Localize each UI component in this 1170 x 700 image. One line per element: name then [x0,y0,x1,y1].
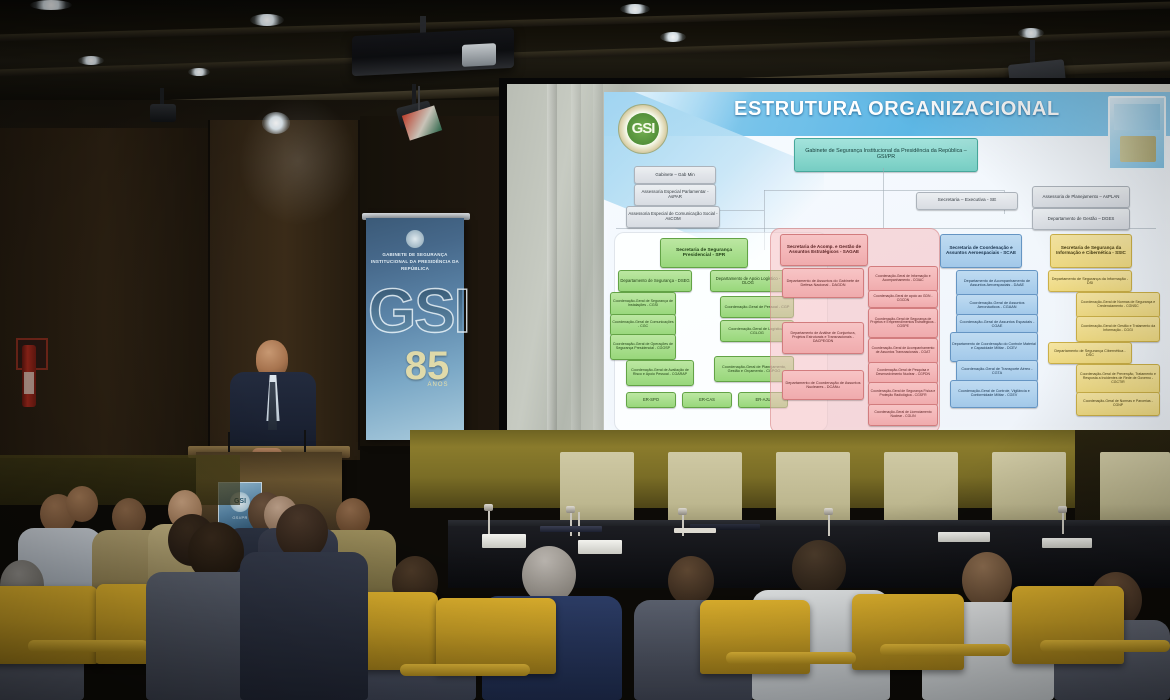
auditorium-seat [0,586,98,664]
name-placard [578,540,622,554]
org-box-cgta: Coordenação-Geral de Transporte Aéreo - … [956,360,1038,382]
gsi-85-corner-logo [1108,96,1166,170]
org-box-ascom: Assessoria Especial de Comunicação Socia… [626,206,720,228]
org-box-cggi: Coordenação-Geral de Gestão e Tratamento… [1076,316,1160,342]
audience-head [66,486,98,522]
org-box-cgnsc: Coordenação-Geral de Normas de Segurança… [1076,292,1160,318]
projected-slide: ESTRUTURA ORGANIZACIONAL GSI Gabinete de… [604,92,1170,432]
ceiling-spotlight-icon [620,4,650,14]
audience-suit [240,552,368,700]
auditorium-seat [1012,586,1124,664]
seat-armrest [880,644,1010,656]
banner-org-line: GABINETE DE SEGURANÇA INSTITUCIONAL DA P… [370,252,460,272]
org-box-er-cas: ER-CAS [682,392,732,408]
org-box-cgcdn: Coordenação-Geral de apoio ao GDN - CGCD… [868,290,938,308]
table-microphone-head [1058,506,1067,513]
table-microphone-stem [578,512,580,536]
org-box-dsc: Departamento de Segurança Cibernética - … [1048,342,1132,364]
table-papers [540,526,602,532]
ceiling-spotlight-icon [30,0,72,10]
audience-head [792,540,846,596]
table-microphone-head [566,506,575,513]
banner-seal-icon [406,230,424,248]
org-box-cgarap: Coordenação-Geral de Avaliação de Risco … [626,360,694,386]
org-box-dcanu: Departamento de Coordenação de Assuntos … [782,370,864,400]
ceiling-spotlight-icon [188,68,210,76]
org-connector [883,168,884,228]
org-box-er-spo: ER-SPO [626,392,676,408]
org-box-dges: Departamento de Gestão – DGES [1032,208,1130,230]
seat-armrest [1040,640,1170,652]
org-box-cgiac: Coordenação-Geral de Informação e Acompa… [868,266,938,292]
table-microphone-stem [1062,512,1064,534]
org-box-cgnp: Coordenação-Geral de Normas e Parcerias … [1076,392,1160,416]
org-root-box: Gabinete de Segurança Institucional da P… [794,138,978,172]
org-box-daae: Departamento de Acompanhamento de Assunt… [956,270,1038,296]
gsi-corner-bottom [1120,136,1156,162]
org-branch-header-ssic: Secretaria de Segurança da Informação e … [1050,234,1132,268]
org-box-cgspe: Coordenação-Geral de Segurança de Projet… [868,308,938,338]
fire-extinguisher-label [24,372,34,394]
org-branch-header-spr: Secretaria de Segurança Presidencial - S… [660,238,748,268]
table-microphone-head [678,508,687,515]
org-box-cgsfr: Coordenação-Geral de Segurança Física e … [868,382,938,406]
wall-spotlight-icon [262,112,290,134]
wall-band-left [0,455,240,505]
org-box-cgsi: Coordenação-Geral de Segurança de Instal… [610,292,676,316]
name-placard [1042,538,1092,548]
stage-light-icon [150,104,176,122]
banner-acronym: GSI [368,276,462,347]
org-box-cgpdn: Coordenação-Geral de Pesquisa e Desenvol… [868,362,938,384]
org-box-dcev: Departamento de Coordenação do Controle … [950,332,1038,362]
org-box-cglin: Coordenação-Geral de Licenciamento Nucle… [868,404,938,426]
head-table-chair [1100,452,1170,526]
org-box-dacpegdn: Departamento de Análise de Conjuntura, P… [782,322,864,354]
ceiling-spotlight-icon [660,32,686,42]
gsi-seal-label: GSI [627,113,659,145]
table-papers [674,528,716,533]
org-box-cgosp: Coordenação-Geral de Operações de Segura… [610,334,676,360]
org-box-dagdn: Departamento de Assuntos do Gabinete de … [782,268,864,298]
org-box-secretaria-executiva: Secretaria – Executiva - SE [916,192,1018,210]
gsi-seal-logo: GSI [618,104,668,154]
name-placard [938,532,990,542]
org-box-dseg: Departamento de Segurança - DSEG [618,270,692,292]
org-box-cgat: Coordenação-Geral de Acompanhamento de A… [868,338,938,364]
podium-microphone [228,432,230,452]
name-placard [482,534,526,548]
projector-lens-icon [462,43,496,67]
slide-title: ESTRUTURA ORGANIZACIONAL [734,98,1144,128]
table-microphone-head [484,504,493,511]
org-box-cgaan: Coordenação-Geral de Assuntos Aeronáutic… [956,294,1038,316]
head-table-chair [884,452,958,526]
banner-anniversary-sub: ANOS [416,382,460,388]
audience-head [668,556,714,606]
org-branch-header-sagae: Secretaria de Acomp. e Gestão de Assunto… [780,234,868,266]
seat-armrest [28,640,148,652]
podium-microphone [304,430,306,452]
table-microphone-head [824,508,833,515]
ceiling-spotlight-icon [78,56,104,65]
table-microphone-stem [488,510,490,534]
wall-seam [208,120,210,460]
ceiling-spotlight-icon [1018,28,1044,38]
org-box-cgc: Coordenação-Geral de Comunicações - CGC [610,314,676,336]
org-box-cgev: Coordenação-Geral de Controle, Vigilânci… [950,380,1038,408]
table-microphone-stem [570,512,572,536]
auditorium-scene: ESTRUTURA ORGANIZACIONAL GSI Gabinete de… [0,0,1170,700]
seat-armrest [400,664,530,676]
org-connector [764,190,1004,191]
org-box-aspar: Assessoria Especial Parlamentar - AsPAR [634,184,716,206]
audience-head [962,552,1012,608]
org-box-cgctir: Coordenação-Geral de Prevenção, Tratamen… [1076,364,1160,394]
org-branch-header-scae: Secretaria de Coordenação e Assuntos Aer… [940,234,1022,268]
org-box-dsi: Departamento de Segurança da Informação … [1048,270,1132,292]
gsi-corner-top [1114,104,1160,130]
ceiling-beam [0,2,1170,42]
auditorium-seat [436,598,556,674]
org-box-asplan: Assessoria de Planejamento – AsPLAN [1032,186,1130,208]
rollup-banner: GABINETE DE SEGURANÇA INSTITUCIONAL DA P… [366,218,464,440]
org-box-cgae: Coordenação-Geral de Assuntos Espaciais … [956,314,1038,334]
org-box-gab-min: Gabinete – Gab Min [634,166,716,184]
seat-armrest [726,652,856,664]
wall-wood-panel [0,128,210,458]
rig-cord [418,86,420,112]
ceiling-spotlight-icon [250,14,284,26]
head-table-chair [776,452,850,526]
auditorium-seat [852,594,964,670]
head-table-chair [992,452,1066,526]
table-microphone-stem [828,514,830,536]
